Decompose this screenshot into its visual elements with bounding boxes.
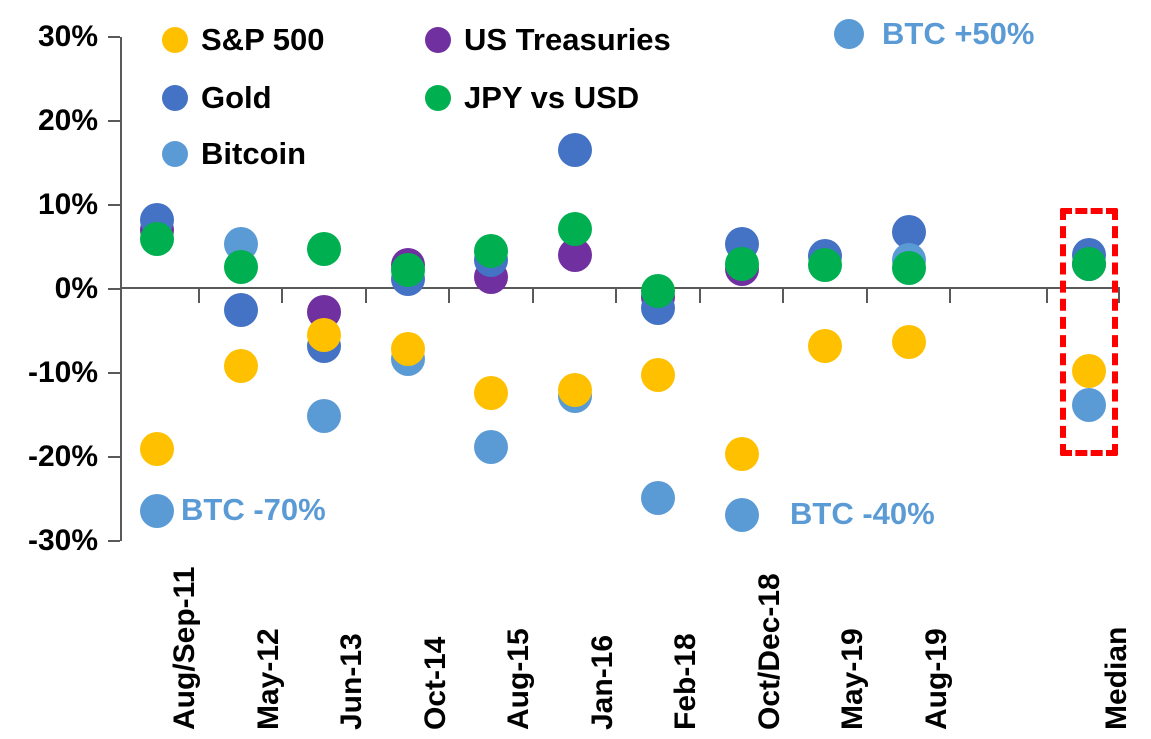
data-point	[558, 373, 592, 407]
annotation-btc-minus-40: BTC -40%	[742, 498, 935, 529]
x-axis-label: Aug/Sep-11	[170, 567, 200, 730]
y-tick-label: -30%	[0, 526, 98, 556]
data-point	[391, 332, 425, 366]
legend-swatch-gold	[162, 85, 188, 111]
x-tick-mark	[949, 289, 951, 303]
legend-swatch-bitcoin	[162, 141, 188, 167]
y-tick-label: 30%	[0, 22, 98, 52]
annotation-dot-btc-plus-50	[834, 19, 864, 49]
y-tick-mark	[108, 204, 120, 206]
x-tick-mark	[281, 289, 283, 303]
data-point	[725, 247, 759, 281]
data-point	[1072, 388, 1106, 422]
data-point	[307, 399, 341, 433]
legend-item-jpy-vs-usd: JPY vs USD	[425, 82, 639, 113]
x-axis-label: Jun-13	[337, 633, 367, 730]
legend-label-sp500: S&P 500	[201, 24, 325, 55]
y-tick-label: 10%	[0, 190, 98, 220]
x-tick-mark	[532, 289, 534, 303]
x-tick-mark	[866, 289, 868, 303]
data-point	[558, 212, 592, 246]
legend-swatch-jpy-vs-usd	[425, 85, 451, 111]
data-point	[641, 481, 675, 515]
data-point	[391, 253, 425, 287]
x-axis-label: Aug-15	[504, 628, 534, 730]
y-tick-mark	[108, 36, 120, 38]
x-tick-mark	[1118, 289, 1120, 303]
y-tick-label: 0%	[0, 274, 98, 304]
data-point	[1072, 247, 1106, 281]
annotation-label-btc-minus-70: BTC -70%	[181, 494, 326, 525]
x-tick-mark	[448, 289, 450, 303]
y-tick-mark	[108, 372, 120, 374]
x-tick-mark	[615, 289, 617, 303]
legend-label-bitcoin: Bitcoin	[201, 138, 306, 169]
data-point	[725, 437, 759, 471]
x-tick-mark	[365, 289, 367, 303]
data-point	[474, 430, 508, 464]
legend-label-gold: Gold	[201, 82, 272, 113]
y-tick-label: -10%	[0, 358, 98, 388]
x-axis-label: Feb-18	[671, 633, 701, 730]
x-axis-label: May-12	[254, 628, 284, 730]
legend-label-us-treasuries: US Treasuries	[464, 24, 671, 55]
y-tick-label: -20%	[0, 442, 98, 472]
data-point	[808, 248, 842, 282]
data-point	[140, 222, 174, 256]
annotation-btc-minus-70: BTC -70%	[133, 494, 326, 525]
zero-baseline	[120, 287, 1120, 289]
data-point	[558, 133, 592, 167]
legend-item-us-treasuries: US Treasuries	[425, 24, 671, 55]
x-axis-label: May-19	[838, 628, 868, 730]
data-point	[808, 329, 842, 363]
data-point	[892, 325, 926, 359]
x-axis-label: Oct-14	[421, 637, 451, 730]
legend-item-sp500: S&P 500	[162, 24, 325, 55]
y-tick-mark	[108, 120, 120, 122]
data-point	[641, 358, 675, 392]
x-axis-label: Oct/Dec-18	[755, 573, 785, 730]
data-point	[224, 293, 258, 327]
legend-item-gold: Gold	[162, 82, 272, 113]
annotation-label-btc-plus-50: BTC +50%	[882, 18, 1034, 49]
y-tick-label: 20%	[0, 106, 98, 136]
annotation-btc-plus-50: BTC +50%	[834, 18, 1034, 49]
x-tick-mark	[782, 289, 784, 303]
y-axis-line	[120, 37, 122, 541]
data-point	[474, 234, 508, 268]
data-point	[140, 432, 174, 466]
data-point	[641, 274, 675, 308]
data-point	[224, 250, 258, 284]
x-axis-label: Median	[1102, 627, 1132, 730]
y-tick-mark	[108, 456, 120, 458]
y-tick-mark	[108, 288, 120, 290]
legend-label-jpy-vs-usd: JPY vs USD	[464, 82, 639, 113]
x-axis-label: Aug-19	[922, 628, 952, 730]
data-point	[307, 318, 341, 352]
legend-item-bitcoin: Bitcoin	[162, 138, 306, 169]
legend-swatch-sp500	[162, 27, 188, 53]
data-point	[892, 251, 926, 285]
x-tick-mark	[198, 289, 200, 303]
x-tick-mark	[1046, 289, 1048, 303]
data-point	[307, 232, 341, 266]
data-point	[474, 376, 508, 410]
data-point	[224, 349, 258, 383]
x-axis-label: Jan-16	[588, 635, 618, 730]
x-tick-mark	[699, 289, 701, 303]
y-tick-mark	[108, 540, 120, 542]
annotation-label-btc-minus-40: BTC -40%	[790, 498, 935, 529]
legend-swatch-us-treasuries	[425, 27, 451, 53]
chart-canvas: 30%20%10%0%-10%-20%-30% Aug/Sep-11May-12…	[0, 0, 1151, 739]
